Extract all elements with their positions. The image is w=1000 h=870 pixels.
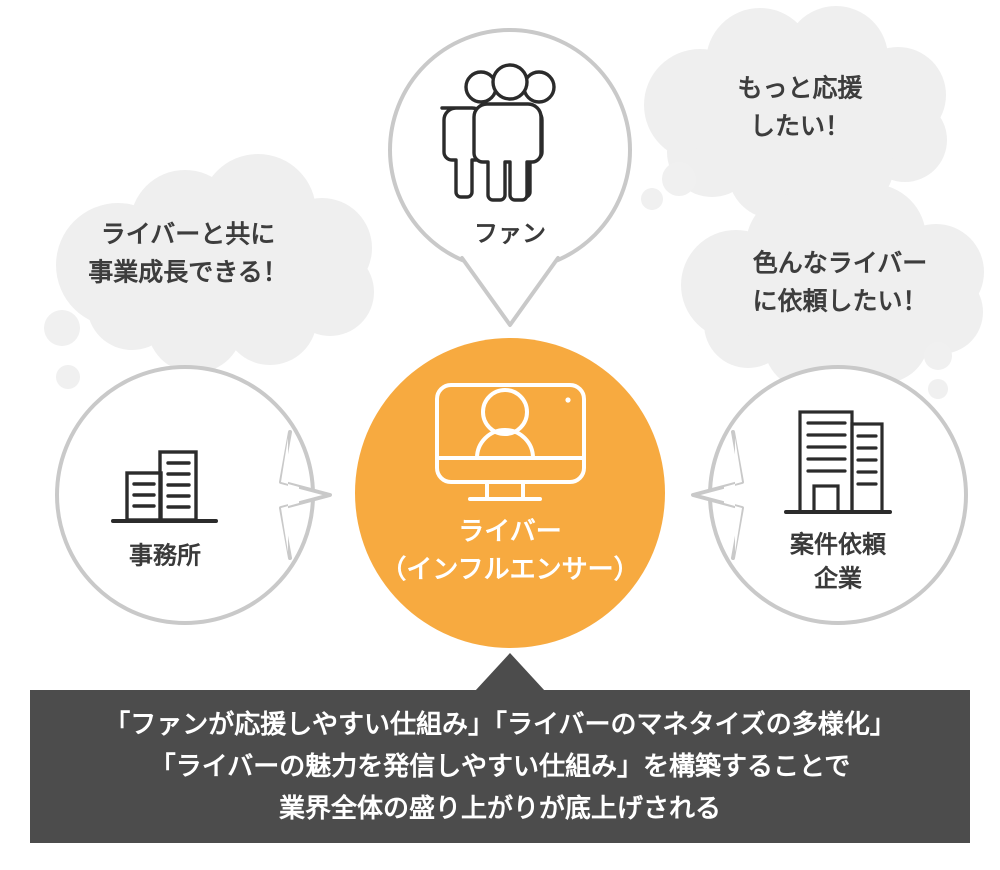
- banner-line2: 「ライバーの魅力を発信しやすい仕組み」を構築することで: [150, 751, 850, 781]
- conclusion-banner: 「ファンが応援しやすい仕組み」「ライバーのマネタイズの多様化」 「ライバーの魅力…: [30, 653, 970, 843]
- conclusion-banner-layer: 「ファンが応援しやすい仕組み」「ライバーのマネタイズの多様化」 「ライバーの魅力…: [0, 0, 1000, 870]
- banner-pointer-triangle: [475, 653, 545, 691]
- banner-line3: 業界全体の盛り上がりが底上げされる: [279, 793, 721, 823]
- diagram-canvas: ライバーと共に 事業成長できる！ もっと応援 したい！: [0, 0, 1000, 870]
- banner-line1: 「ファンが応援しやすい仕組み」「ライバーのマネタイズの多様化」: [104, 709, 895, 739]
